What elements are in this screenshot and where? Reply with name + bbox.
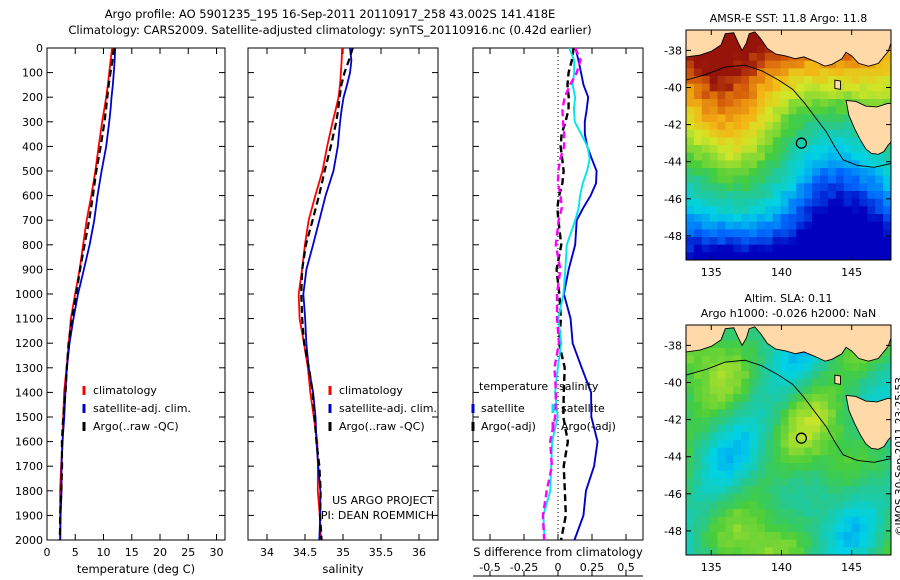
map-cell [804, 122, 812, 130]
map-cell [828, 176, 836, 184]
map-cell [733, 214, 741, 222]
map-cell [773, 114, 781, 122]
map-cell [812, 176, 820, 184]
map-cell [718, 137, 726, 145]
map-cell [733, 99, 741, 107]
map-cell [710, 160, 718, 168]
map-cell [694, 61, 702, 69]
map-cell [883, 214, 891, 222]
map-cell [733, 229, 741, 237]
map-cell [781, 199, 789, 207]
map-cell [702, 448, 710, 456]
map-cell [757, 448, 765, 456]
map-cell [694, 84, 702, 92]
map-cell [694, 478, 702, 486]
map-cell [875, 76, 883, 84]
map-cell [757, 425, 765, 433]
map-cell [702, 509, 710, 517]
map-cell [765, 191, 773, 199]
map-cell [765, 183, 773, 191]
map-cell [718, 91, 726, 99]
map-cell [765, 99, 773, 107]
map-cell [820, 68, 828, 76]
map-cell [733, 114, 741, 122]
map-cell [710, 237, 718, 245]
map-cell [725, 440, 733, 448]
map-cell [702, 524, 710, 532]
map-cell [702, 517, 710, 525]
map-cell [749, 425, 757, 433]
map-cell [804, 130, 812, 138]
map-cell [757, 53, 765, 61]
map-cell [710, 168, 718, 176]
map-cell [836, 517, 844, 525]
map-cell [765, 540, 773, 548]
map-cell [765, 501, 773, 509]
map-cell [765, 409, 773, 417]
map-cell [741, 222, 749, 230]
map-cell [725, 455, 733, 463]
map-cell [773, 494, 781, 502]
map-cell [844, 371, 852, 379]
map-cell [789, 478, 797, 486]
map-cell [686, 245, 694, 253]
map-cell [804, 199, 812, 207]
depth-tick-label: 100 [22, 67, 43, 80]
map-cell [859, 379, 867, 387]
map-cell [883, 76, 891, 84]
map-cell [828, 91, 836, 99]
map-cell [789, 114, 797, 122]
map-cell [867, 76, 875, 84]
map-cell [686, 540, 694, 548]
map-cell [765, 432, 773, 440]
depth-tick-label: 400 [22, 140, 43, 153]
map-cell [733, 252, 741, 260]
map-cell [844, 229, 852, 237]
map-cell [836, 402, 844, 410]
map-cell [749, 402, 757, 410]
map-cell [844, 432, 852, 440]
map-cell [686, 356, 694, 364]
map-cell [733, 84, 741, 92]
map-cell [749, 440, 757, 448]
map-cell [836, 168, 844, 176]
map-cell [718, 122, 726, 130]
map-cell [789, 122, 797, 130]
map-cell [773, 84, 781, 92]
map-cell [836, 440, 844, 448]
map-cell [859, 371, 867, 379]
x-axis-label: salinity [322, 562, 363, 576]
map-cell [710, 532, 718, 540]
map-cell [718, 130, 726, 138]
depth-tick-label: 1300 [15, 362, 43, 375]
map-cell [820, 206, 828, 214]
map-cell [820, 199, 828, 207]
map-cell [804, 237, 812, 245]
map-cell [686, 486, 694, 494]
map-cell [859, 84, 867, 92]
map-cell [725, 448, 733, 456]
map-cell [789, 371, 797, 379]
map-raster [686, 318, 898, 556]
map-cell [773, 379, 781, 387]
map-cell [844, 363, 852, 371]
map-cell [749, 547, 757, 555]
map-cell [804, 471, 812, 479]
map-cell [733, 206, 741, 214]
map-cell [796, 471, 804, 479]
map-cell [789, 237, 797, 245]
map-cell [725, 145, 733, 153]
map-cell [773, 168, 781, 176]
map-cell [749, 363, 757, 371]
map-cell [686, 114, 694, 122]
map-cell [718, 547, 726, 555]
map-cell [789, 532, 797, 540]
map-cell [844, 524, 852, 532]
map-cell [733, 532, 741, 540]
map-cell [781, 417, 789, 425]
map-cell [757, 509, 765, 517]
map-cell [694, 455, 702, 463]
map-cell [749, 478, 757, 486]
map-cell [804, 68, 812, 76]
map-cell [820, 137, 828, 145]
map-cell [867, 68, 875, 76]
map-cell [765, 114, 773, 122]
map-cell [820, 379, 828, 387]
map-cell [836, 455, 844, 463]
map-cell [686, 183, 694, 191]
map-cell [836, 229, 844, 237]
map-cell [789, 176, 797, 184]
map-cell [852, 237, 860, 245]
map-cell [757, 45, 765, 53]
map-cell [733, 245, 741, 253]
map-cell [686, 191, 694, 199]
map-cell [883, 356, 891, 364]
map-cell [796, 214, 804, 222]
map-cell [852, 229, 860, 237]
map-cell [725, 153, 733, 161]
map-cell [804, 153, 812, 161]
map-cell [686, 386, 694, 394]
map-cell [773, 540, 781, 548]
map-cell [710, 524, 718, 532]
map-cell [781, 68, 789, 76]
map-cell [859, 478, 867, 486]
map-cell [725, 409, 733, 417]
map-cell [702, 222, 710, 230]
map-cell [710, 455, 718, 463]
sla-map-subtitle: Argo h1000: -0.026 h2000: NaN [701, 307, 877, 320]
map-cell [883, 540, 891, 548]
map-cell [694, 168, 702, 176]
depth-tick-label: 2000 [15, 534, 43, 547]
map-cell [741, 432, 749, 440]
map-cell [725, 183, 733, 191]
map-cell [733, 524, 741, 532]
map-cell [844, 252, 852, 260]
map-cell [749, 540, 757, 548]
map-cell [836, 183, 844, 191]
map-cell [781, 99, 789, 107]
map-cell [804, 91, 812, 99]
map-cell [804, 509, 812, 517]
map-cell [859, 455, 867, 463]
map-cell [741, 76, 749, 84]
map-cell [765, 402, 773, 410]
map-cell [773, 137, 781, 145]
map-cell [844, 168, 852, 176]
map-cell [796, 237, 804, 245]
map-cell [702, 425, 710, 433]
map-cell [741, 237, 749, 245]
map-cell [859, 191, 867, 199]
map-cell [781, 379, 789, 387]
sst-map-title: AMSR-E SST: 11.8 Argo: 11.8 [710, 12, 868, 25]
map-cell [733, 222, 741, 230]
map-cell [686, 478, 694, 486]
map-cell [765, 107, 773, 115]
map-cell [757, 471, 765, 479]
map-cell [781, 371, 789, 379]
map-cell [875, 91, 883, 99]
map-cell [804, 61, 812, 69]
map-cell [733, 363, 741, 371]
map-cell [702, 76, 710, 84]
map-cell [741, 394, 749, 402]
map-cell [796, 463, 804, 471]
map-cell [741, 191, 749, 199]
lat-tick-label: -40 [664, 377, 682, 390]
map-cell [702, 252, 710, 260]
map-cell [765, 440, 773, 448]
map-cell [796, 199, 804, 207]
map-cell [820, 455, 828, 463]
map-cell [694, 252, 702, 260]
sst-map-panel: AMSR-E SST: 11.8 Argo: 11.8-38-40-42-44-… [660, 8, 900, 293]
map-cell [828, 394, 836, 402]
map-cell [836, 68, 844, 76]
map-cell [757, 245, 765, 253]
map-cell [757, 137, 765, 145]
map-cell [859, 222, 867, 230]
map-cell [741, 532, 749, 540]
map-cell [710, 153, 718, 161]
map-cell [733, 471, 741, 479]
map-cell [749, 417, 757, 425]
map-cell [749, 191, 757, 199]
map-cell [867, 540, 875, 548]
map-cell [781, 455, 789, 463]
map-cell [725, 137, 733, 145]
map-cell [812, 363, 820, 371]
map-cell [710, 540, 718, 548]
map-cell [702, 114, 710, 122]
map-cell [749, 206, 757, 214]
map-cell [812, 463, 820, 471]
map-cell [804, 448, 812, 456]
map-cell [867, 386, 875, 394]
map-cell [757, 191, 765, 199]
plot-frame [248, 48, 438, 540]
map-cell [725, 363, 733, 371]
map-cell [804, 463, 812, 471]
map-cell [765, 222, 773, 230]
map-cell [741, 402, 749, 410]
map-cell [773, 486, 781, 494]
map-cell [828, 486, 836, 494]
map-cell [789, 463, 797, 471]
lat-tick-label: -42 [664, 119, 682, 132]
map-cell [828, 402, 836, 410]
map-cell [883, 237, 891, 245]
map-cell [812, 84, 820, 92]
map-cell [710, 417, 718, 425]
map-cell [781, 394, 789, 402]
map-cell [718, 455, 726, 463]
depth-tick-label: 1600 [15, 436, 43, 449]
map-cell [781, 145, 789, 153]
map-cell [741, 386, 749, 394]
map-cell [828, 463, 836, 471]
map-cell [749, 532, 757, 540]
map-cell [757, 84, 765, 92]
map-cell [789, 61, 797, 69]
map-cell [765, 448, 773, 456]
map-cell [757, 356, 765, 364]
map-cell [781, 176, 789, 184]
map-cell [773, 509, 781, 517]
map-cell [796, 206, 804, 214]
map-cell [804, 168, 812, 176]
sla-map-panel: Altim. SLA: 0.11Argo h1000: -0.026 h2000… [660, 288, 900, 580]
map-cell [820, 229, 828, 237]
map-cell [828, 524, 836, 532]
temperature-profile-panel: 0100200300400500600700800900100011001200… [0, 38, 240, 580]
map-cell [812, 402, 820, 410]
map-cell [686, 168, 694, 176]
map-cell [757, 145, 765, 153]
map-cell [828, 191, 836, 199]
map-cell [820, 409, 828, 417]
map-raster [686, 23, 898, 261]
map-cell [804, 84, 812, 92]
map-cell [852, 137, 860, 145]
map-cell [867, 222, 875, 230]
map-cell [710, 229, 718, 237]
map-cell [859, 448, 867, 456]
map-cell [765, 455, 773, 463]
map-cell [725, 532, 733, 540]
map-cell [749, 68, 757, 76]
map-cell [694, 440, 702, 448]
map-cell [781, 153, 789, 161]
map-cell [710, 463, 718, 471]
map-cell [741, 122, 749, 130]
map-cell [812, 386, 820, 394]
map-cell [852, 84, 860, 92]
map-cell [828, 409, 836, 417]
map-cell [718, 99, 726, 107]
map-cell [812, 501, 820, 509]
map-cell [757, 199, 765, 207]
lat-tick-label: -42 [664, 414, 682, 427]
map-cell [836, 145, 844, 153]
map-cell [725, 379, 733, 387]
map-cell [741, 160, 749, 168]
map-cell [820, 494, 828, 502]
map-cell [828, 532, 836, 540]
depth-tick-label: 1100 [15, 313, 43, 326]
map-cell [828, 122, 836, 130]
map-cell [694, 122, 702, 130]
map-cell [875, 237, 883, 245]
map-cell [812, 425, 820, 433]
map-cell [710, 348, 718, 356]
map-cell [741, 501, 749, 509]
map-cell [836, 137, 844, 145]
map-cell [741, 478, 749, 486]
map-cell [828, 153, 836, 161]
map-cell [757, 237, 765, 245]
map-cell [757, 409, 765, 417]
map-cell [757, 99, 765, 107]
map-cell [789, 107, 797, 115]
map-cell [883, 191, 891, 199]
map-cell [867, 517, 875, 525]
map-cell [765, 137, 773, 145]
depth-tick-label: 300 [22, 116, 43, 129]
map-cell [789, 501, 797, 509]
map-cell [773, 68, 781, 76]
map-cell [875, 191, 883, 199]
map-cell [875, 68, 883, 76]
map-cell [773, 99, 781, 107]
map-cell [749, 333, 757, 341]
map-cell [765, 145, 773, 153]
map-cell [867, 363, 875, 371]
map-cell [733, 501, 741, 509]
x-tick-label: 25 [181, 546, 195, 559]
map-cell [789, 517, 797, 525]
map-cell [844, 199, 852, 207]
map-cell [804, 494, 812, 502]
map-cell [773, 237, 781, 245]
map-cell [875, 214, 883, 222]
map-cell [749, 45, 757, 53]
map-cell [844, 448, 852, 456]
map-cell [686, 99, 694, 107]
map-cell [741, 206, 749, 214]
x-tick-label: 34 [260, 546, 274, 559]
map-cell [836, 214, 844, 222]
map-cell [765, 425, 773, 433]
map-cell [694, 153, 702, 161]
map-cell [741, 245, 749, 253]
map-cell [702, 122, 710, 130]
map-cell [883, 222, 891, 230]
map-cell [875, 222, 883, 230]
map-cell [741, 252, 749, 260]
map-cell [710, 107, 718, 115]
map-cell [710, 130, 718, 138]
map-cell [812, 379, 820, 387]
x-tick-label: 30 [210, 546, 224, 559]
